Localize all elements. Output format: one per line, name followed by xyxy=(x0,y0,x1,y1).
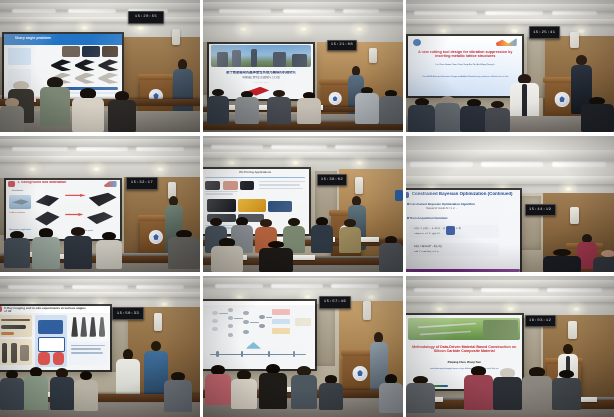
projection-screen: Methodology of Data-Driven Material Base… xyxy=(406,315,522,388)
slide-authors: Lei Chen Jiawei Chen Chao Yang Bin Zhu B… xyxy=(417,64,513,67)
presenter xyxy=(577,234,598,269)
slide-logo xyxy=(246,87,269,96)
room-scene: X-Ray imaging and in-situ experiments at… xyxy=(0,276,200,417)
presenter xyxy=(164,196,184,256)
slide-title: 基于数据驱动的晶体塑性有限元模拟的机理研究 xyxy=(213,71,309,75)
slide-bullet: Introduction xyxy=(12,190,23,193)
presenter-at-podium xyxy=(570,55,593,113)
logo-right xyxy=(496,38,517,46)
led-clock-sign: 16:03:12 xyxy=(525,315,556,327)
slide-title: 1. Background and Motivation xyxy=(17,181,113,185)
room-scene: 1. Background and Motivation Introductio… xyxy=(0,136,200,272)
photo-grid: Sharp angle problem 15:20:55 xyxy=(0,0,614,417)
photo-cell-top-center[interactable]: 基于数据驱动的晶体塑性有限元模拟的机理研究 中国机械工程学会·先进制造与工艺分会… xyxy=(203,0,406,136)
led-clock-text: 15:44:19 xyxy=(529,208,551,212)
room-scene: 3D Printing Applications 15:38:02 xyxy=(203,136,403,272)
projection-screen: A new cutting tool design for vibration … xyxy=(408,36,522,97)
photo-cell-middle-left[interactable]: 1. Background and Motivation Introductio… xyxy=(0,136,203,276)
led-clock-text: 15:32:17 xyxy=(131,181,153,185)
projection-screen xyxy=(203,301,315,369)
photo-cell-top-left[interactable]: Sharp angle problem 15:20:55 xyxy=(0,0,203,136)
slide-subtitle: 中国机械工程学会·先进制造与工艺分会 xyxy=(217,77,304,80)
led-clock-text: 16:03:12 xyxy=(529,319,551,323)
led-clock-text: 15:50:33 xyxy=(117,312,139,316)
led-clock-text: 15:57:46 xyxy=(324,300,346,304)
slide-title: Sharp angle problem xyxy=(15,36,118,40)
led-clock-sign: 15:20:55 xyxy=(128,11,164,25)
slide-title: Methodology of Data-Driven Material Base… xyxy=(411,345,518,353)
photo-cell-middle-center[interactable]: 3D Printing Applications 15:38:02 xyxy=(203,136,406,276)
projection-screen: 基于数据驱动的晶体塑性有限元模拟的机理研究 中国机械工程学会·先进制造与工艺分会… xyxy=(209,44,313,99)
projection-screen: Sharp angle problem xyxy=(4,34,122,100)
presenter xyxy=(347,196,367,250)
projection-screen: Constrained Bayesian Optimization (Conti… xyxy=(406,190,520,272)
slide-title: A new cutting tool design for vibration … xyxy=(413,50,518,58)
slide-title: X-Ray imaging and in-situ experiments at… xyxy=(4,307,87,314)
slide-title: Constrained Bayesian Optimization (Conti… xyxy=(412,192,516,197)
led-clock-sign: 15:25:41 xyxy=(529,26,560,39)
led-clock-sign: 15:44:19 xyxy=(525,204,556,216)
projection-screen: 3D Printing Applications xyxy=(203,169,309,234)
led-clock-text: 15:25:41 xyxy=(533,31,555,35)
slide-affiliation: China ASME Advanced Innovative Design an… xyxy=(417,76,513,79)
slide-bullet-1: Constrained Bayesian Optimization Algori… xyxy=(409,203,474,207)
room-scene: Constrained Bayesian Optimization (Conti… xyxy=(406,136,614,272)
logo-left xyxy=(413,39,421,46)
photo-cell-middle-right[interactable]: Constrained Bayesian Optimization (Conti… xyxy=(406,136,614,276)
led-clock-text: 15:38:02 xyxy=(321,178,343,182)
led-clock-sign: 15:32:17 xyxy=(126,177,158,190)
led-clock-text: 15:21:08 xyxy=(331,43,353,47)
room-scene: 15:57:46 xyxy=(203,276,403,417)
presenter xyxy=(558,344,579,403)
photo-cell-bottom-right[interactable]: Methodology of Data-Driven Material Base… xyxy=(406,276,614,417)
presenter xyxy=(369,332,389,397)
room-scene: 基于数据驱动的晶体塑性有限元模拟的机理研究 中国机械工程学会·先进制造与工艺分会… xyxy=(203,0,403,132)
slide-title: 3D Printing Applications xyxy=(205,171,304,174)
led-clock-sign: 15:21:08 xyxy=(327,40,357,51)
slide-border-accent xyxy=(406,269,520,272)
room-scene: Methodology of Data-Driven Material Base… xyxy=(406,276,614,417)
led-clock-text: 15:20:55 xyxy=(135,15,157,19)
led-clock-sign: 15:38:02 xyxy=(317,174,347,186)
led-clock-sign: 15:50:33 xyxy=(112,307,144,320)
projection-screen: 1. Background and Motivation Introductio… xyxy=(6,180,120,240)
room-scene: Sharp angle problem 15:20:55 xyxy=(0,0,200,132)
photo-cell-top-right[interactable]: A new cutting tool design for vibration … xyxy=(406,0,614,136)
room-scene: A new cutting tool design for vibration … xyxy=(406,0,614,132)
photo-cell-bottom-center[interactable]: 15:57:46 xyxy=(203,276,406,417)
slide-authors: Zhiqiang Chen, Zhaoyi Sun xyxy=(415,361,513,364)
projection-screen: X-Ray imaging and in-situ experiments at… xyxy=(0,306,110,371)
photo-cell-bottom-left[interactable]: X-Ray imaging and in-situ experiments at… xyxy=(0,276,203,417)
led-clock-sign: 15:57:46 xyxy=(319,296,351,309)
slide-affiliation: aerial landscape photograph banner at to… xyxy=(415,368,513,370)
